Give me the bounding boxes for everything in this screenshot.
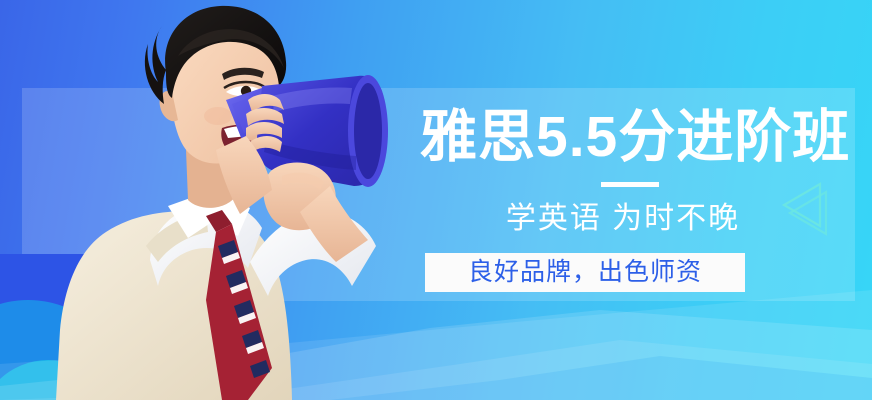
tagline-box: 良好品牌，出色师资 — [425, 253, 745, 292]
banner-subtitle: 学英语 为时不晚 — [420, 202, 826, 236]
page-title: 雅思5.5分进阶班 — [420, 104, 826, 170]
person-with-megaphone-photo — [0, 0, 440, 400]
divider-bar — [601, 182, 659, 187]
promo-banner: 雅思5.5分进阶班 学英语 为时不晚 良好品牌，出色师资 — [0, 0, 872, 400]
tagline-text: 良好品牌，出色师资 — [468, 259, 702, 286]
banner-text-block: 雅思5.5分进阶班 学英语 为时不晚 良好品牌，出色师资 — [420, 104, 840, 292]
